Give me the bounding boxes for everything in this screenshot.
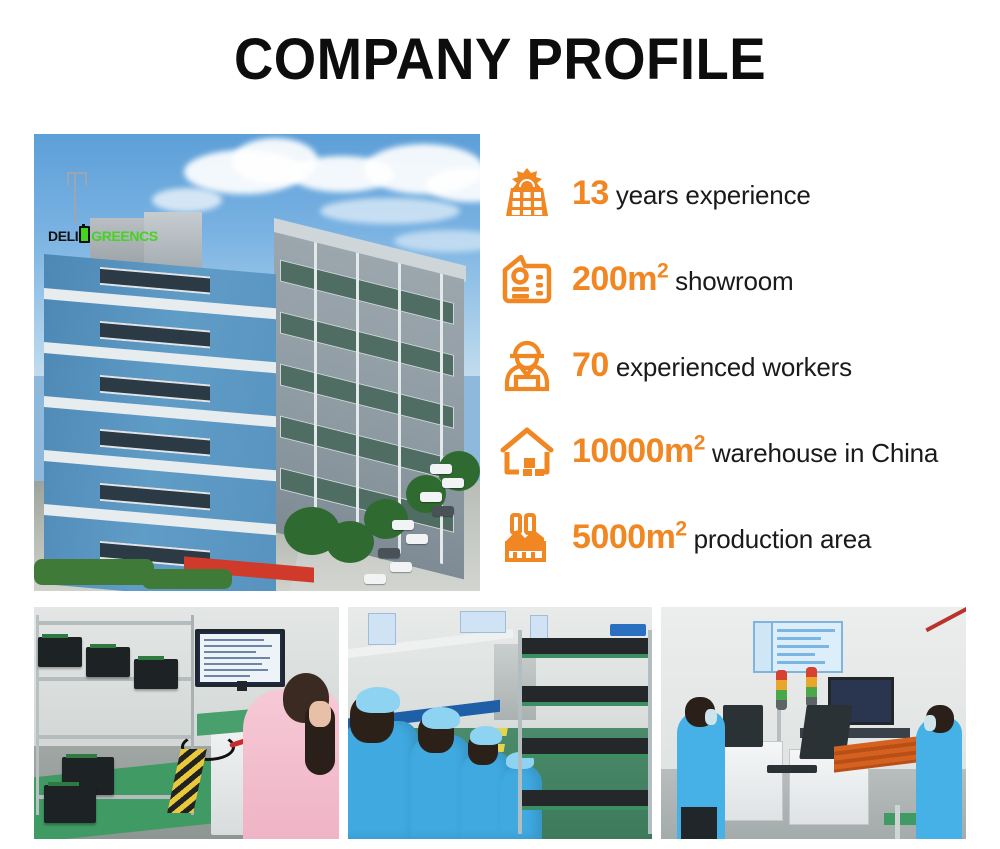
- factory-building-sun-icon: [498, 164, 556, 222]
- car: [430, 464, 452, 474]
- tree: [364, 499, 408, 539]
- signal-tower-light: [806, 667, 817, 707]
- stat-label: experienced workers: [616, 352, 852, 382]
- sign-text-left: DELI: [48, 228, 78, 244]
- stat-label: showroom: [675, 266, 793, 296]
- machine-cabinet: [717, 741, 783, 821]
- assembly-line-workers-photo: [348, 607, 653, 839]
- page-title: COMPANY PROFILE: [30, 26, 970, 93]
- rooftop-antenna: [74, 172, 76, 224]
- car: [378, 548, 400, 558]
- cloud: [320, 198, 460, 224]
- car: [420, 492, 442, 502]
- car: [406, 534, 428, 544]
- stat-row: 5000m2production area: [498, 494, 988, 580]
- car: [364, 574, 386, 584]
- worker-cap: [356, 687, 400, 713]
- car: [442, 478, 464, 488]
- hedge: [34, 559, 154, 585]
- monitor-stand: [237, 681, 247, 691]
- worker-cap: [422, 707, 460, 729]
- battery-icon: [79, 226, 90, 243]
- face-mask: [705, 709, 717, 725]
- stat-value: 70: [572, 346, 609, 384]
- cloud: [152, 188, 222, 212]
- stat-value: 200m2: [572, 260, 668, 298]
- worker-face: [309, 701, 331, 727]
- worker-cap: [470, 726, 502, 745]
- stat-row: 13years experience: [498, 150, 988, 236]
- battery-pack: [86, 647, 130, 677]
- worker-pants: [681, 807, 717, 839]
- stat-row: 70experienced workers: [498, 322, 988, 408]
- warehouse-house-boxes-icon: [498, 422, 556, 480]
- car: [392, 520, 414, 530]
- stat-label: years experience: [616, 180, 811, 210]
- gallery-strip: [34, 607, 966, 839]
- stat-label: production area: [694, 524, 872, 554]
- monitor: [195, 629, 285, 687]
- stat-value: 13: [572, 174, 609, 212]
- stats-list: 13years experience 200m2showroom: [498, 150, 988, 580]
- showroom-tag-icon: [498, 250, 556, 308]
- battery-pack: [44, 785, 96, 823]
- battery-testing-station-photo: [34, 607, 339, 839]
- stat-text: 70experienced workers: [572, 348, 852, 382]
- factory-chimneys-icon: [498, 508, 556, 566]
- stat-row: 10000m2warehouse in China: [498, 408, 988, 494]
- stat-text: 10000m2warehouse in China: [572, 434, 938, 468]
- stat-text: 5000m2production area: [572, 520, 871, 554]
- wall-poster: [460, 611, 506, 633]
- building-sign: DELIGREENCS: [48, 226, 158, 244]
- stat-value: 5000m2: [572, 518, 687, 556]
- automated-machine-operation-photo: [661, 607, 966, 839]
- stat-value: 10000m2: [572, 432, 705, 470]
- stat-row: 200m2showroom: [498, 236, 988, 322]
- car: [390, 562, 412, 572]
- storage-rack: [518, 630, 652, 834]
- hedge: [142, 569, 232, 589]
- face-mask: [924, 715, 936, 731]
- signal-tower-light: [776, 670, 787, 710]
- factory-building-exterior-photo: DELIGREENCS: [34, 134, 480, 591]
- building-front-facade: [44, 254, 276, 591]
- stat-label: warehouse in China: [712, 438, 938, 468]
- worker-hardhat-icon: [498, 336, 556, 394]
- screen: [200, 634, 280, 682]
- battery-pack: [38, 637, 82, 667]
- table-leg: [895, 805, 900, 839]
- worker-right: [916, 717, 962, 839]
- stat-text: 13years experience: [572, 176, 811, 210]
- process-chart-poster: [771, 621, 843, 673]
- wall-poster: [368, 613, 396, 645]
- car: [432, 506, 454, 516]
- machine-arm: [767, 765, 817, 773]
- stat-text: 200m2showroom: [572, 262, 794, 296]
- battery-pack: [134, 659, 178, 689]
- machine-cover: [723, 705, 763, 747]
- sign-text-right: GREENCS: [91, 228, 157, 244]
